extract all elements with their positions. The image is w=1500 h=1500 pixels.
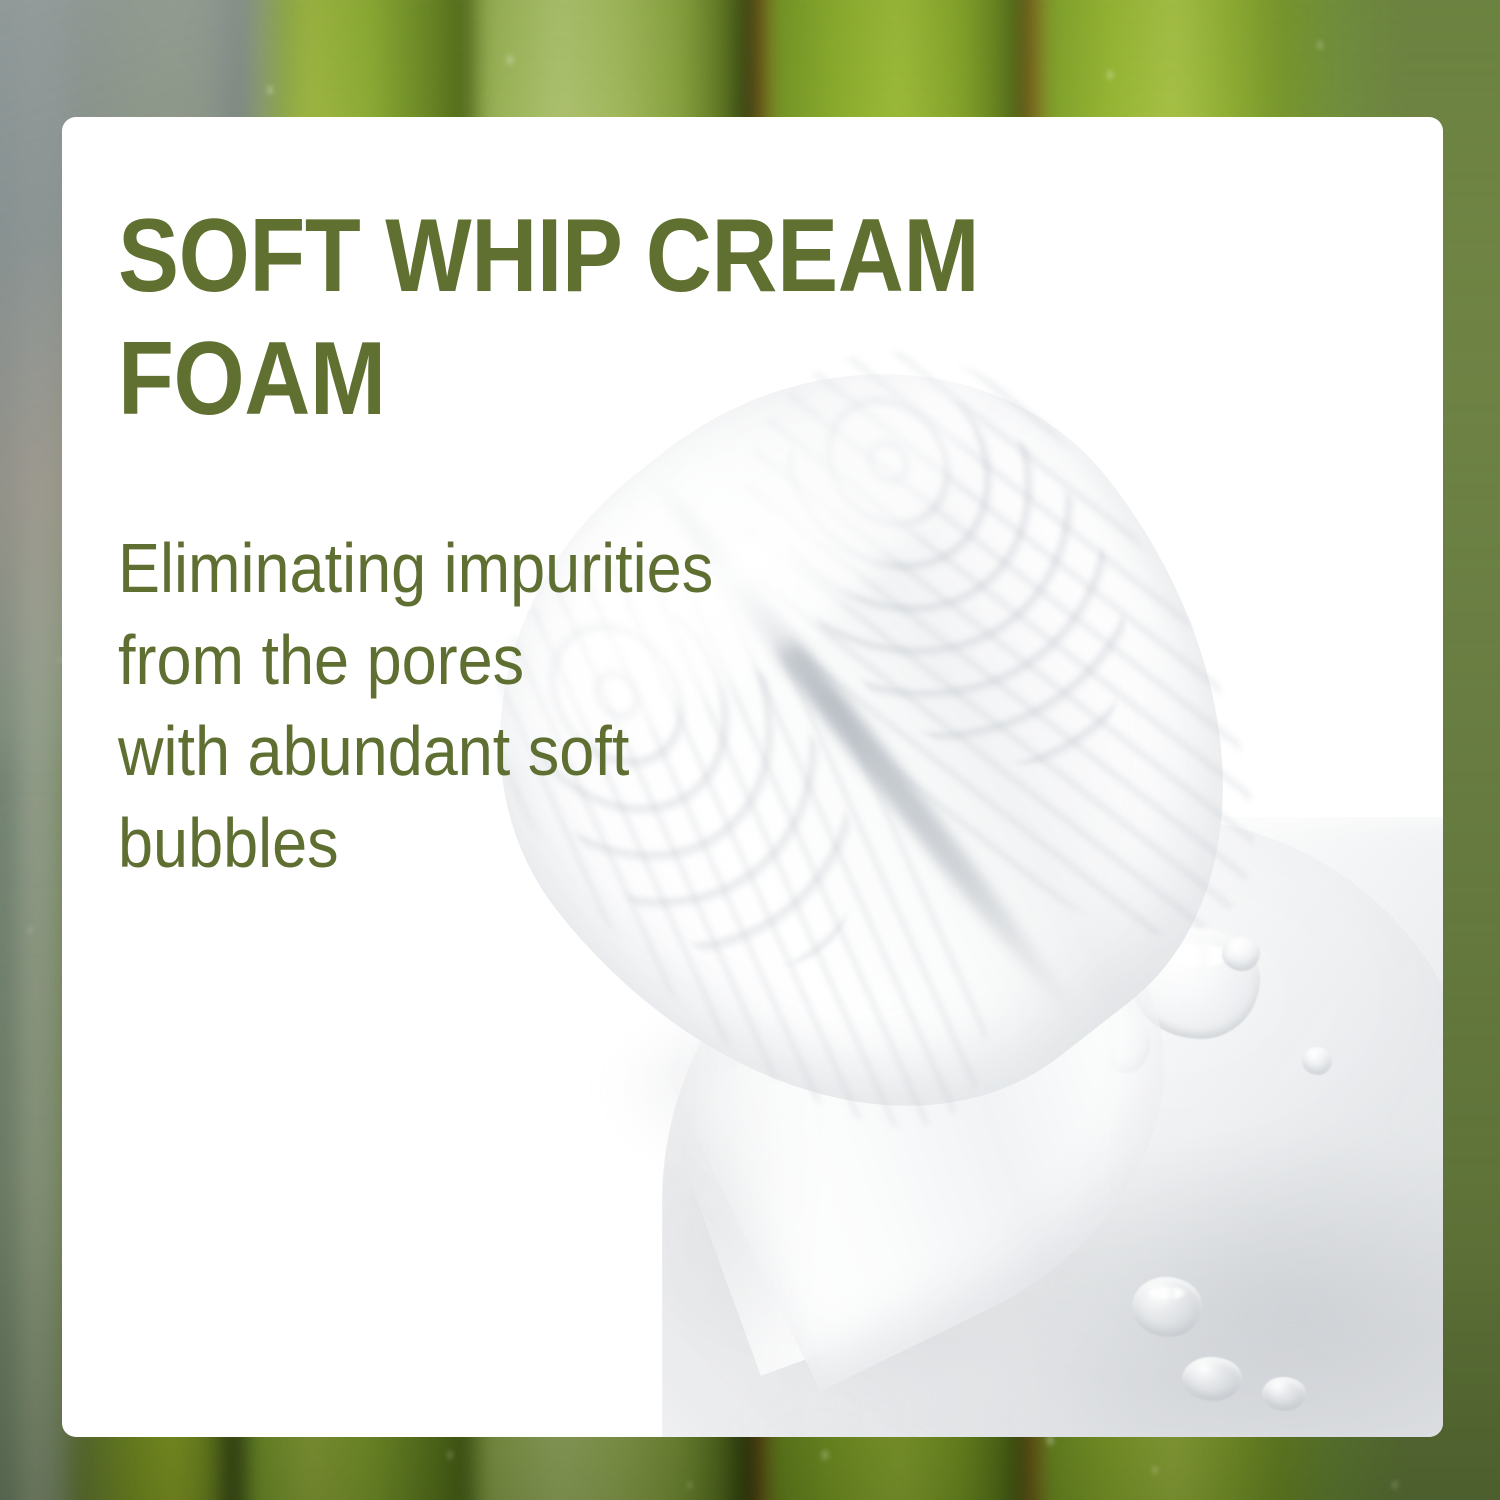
bubble [1132,1277,1202,1337]
bubble [934,982,990,1034]
foam-bubbles [662,817,1443,1437]
bubble [900,1067,990,1169]
cream-tail-lower [658,950,1155,1376]
content-card: SOFT WHIP CREAM FOAM Eliminating impurit… [62,117,1443,1437]
cream-tail [636,808,1243,1392]
bubble [992,987,1116,1115]
bubble [1054,1135,1096,1173]
bubble [1222,937,1260,971]
product-description: Eliminating impurities from the pores wi… [118,523,838,890]
foam-mass [662,817,1443,1437]
bubble [1132,927,1260,1039]
bubble [1262,1377,1306,1411]
bubble [1182,1357,1242,1401]
bubble [812,1247,838,1271]
bubble [1302,1047,1332,1075]
product-banner: SOFT WHIP CREAM FOAM Eliminating impurit… [0,0,1500,1500]
page-title: SOFT WHIP CREAM FOAM [118,195,1156,440]
bubble [852,1287,872,1305]
bubble [962,1117,996,1147]
foam-shading [662,817,1443,1437]
bubble [1100,1017,1150,1073]
cream-contact-shadow [622,997,1142,1187]
